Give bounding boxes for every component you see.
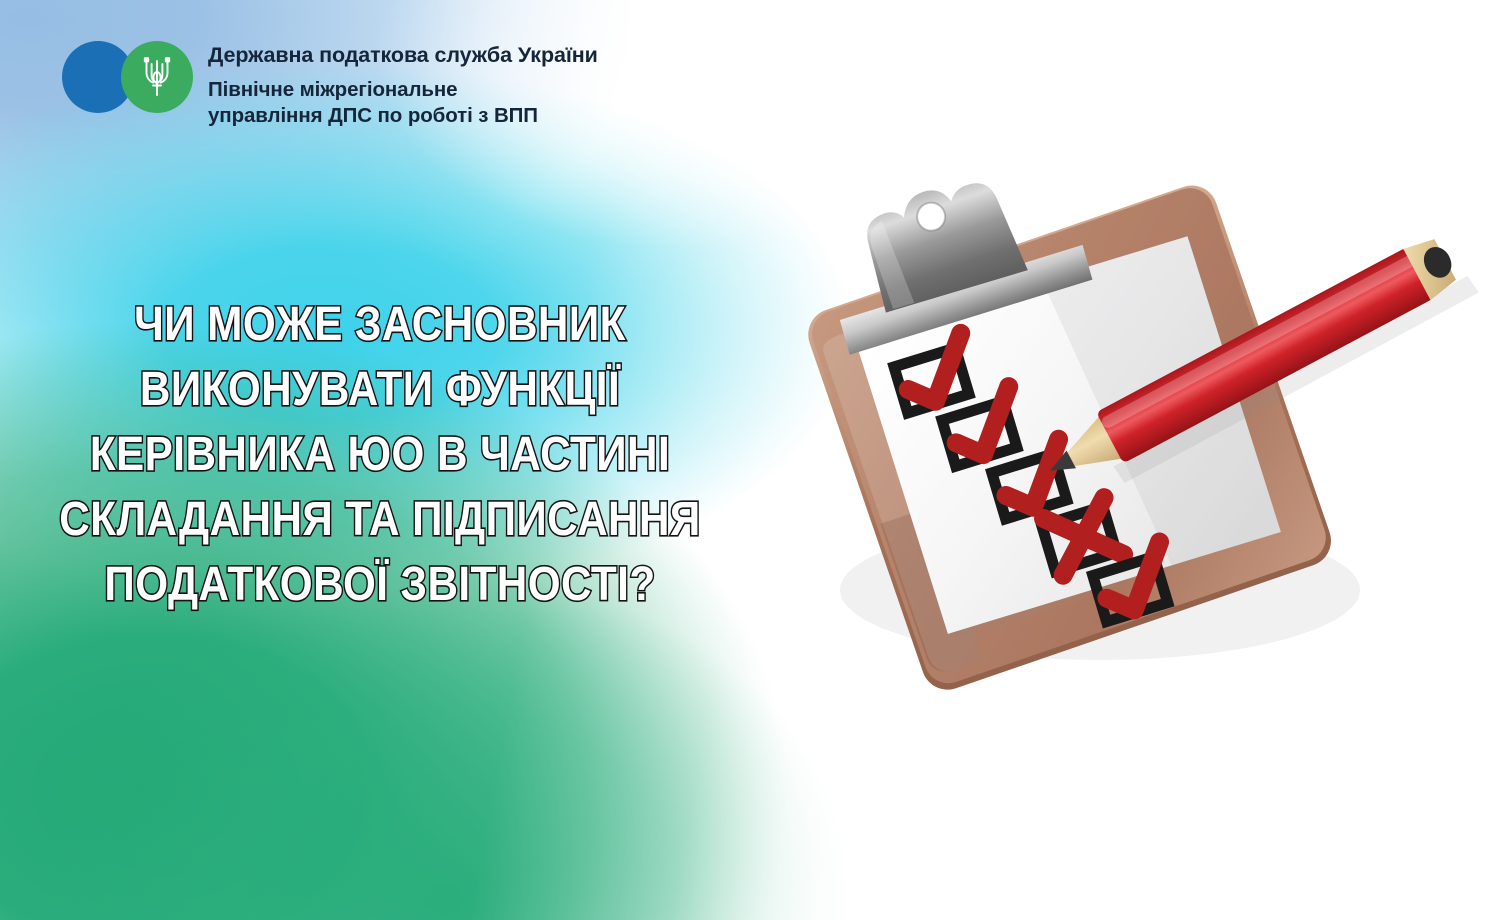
agency-title-line-3: управління ДПС по роботі з ВПП xyxy=(208,103,598,129)
ukrainian-trident-icon xyxy=(140,55,174,99)
agency-logo xyxy=(62,36,194,114)
headline-line-1: ЧИ МОЖЕ ЗАСНОВНИК xyxy=(46,292,715,357)
green-circle-icon xyxy=(121,41,193,113)
headline-block: ЧИ МОЖЕ ЗАСНОВНИК ВИКОНУВАТИ ФУНКЦІЇ КЕР… xyxy=(0,292,760,617)
agency-header: Державна податкова служба України Північ… xyxy=(62,36,598,129)
agency-title-line-1: Державна податкова служба України xyxy=(208,42,598,70)
poster-canvas: Державна податкова служба України Північ… xyxy=(0,0,1500,920)
headline-line-3: КЕРІВНИКА ЮО В ЧАСТИНІ xyxy=(46,422,715,487)
headline-line-5: ПОДАТКОВОЇ ЗВІТНОСТІ? xyxy=(46,552,715,617)
headline-line-2: ВИКОНУВАТИ ФУНКЦІЇ xyxy=(46,357,715,422)
agency-title-line-2: Північне міжрегіональне xyxy=(208,77,598,103)
clipboard-illustration xyxy=(790,120,1490,700)
headline-line-4: СКЛАДАННЯ ТА ПІДПИСАННЯ xyxy=(46,487,715,552)
agency-title-block: Державна податкова служба України Північ… xyxy=(194,36,598,129)
